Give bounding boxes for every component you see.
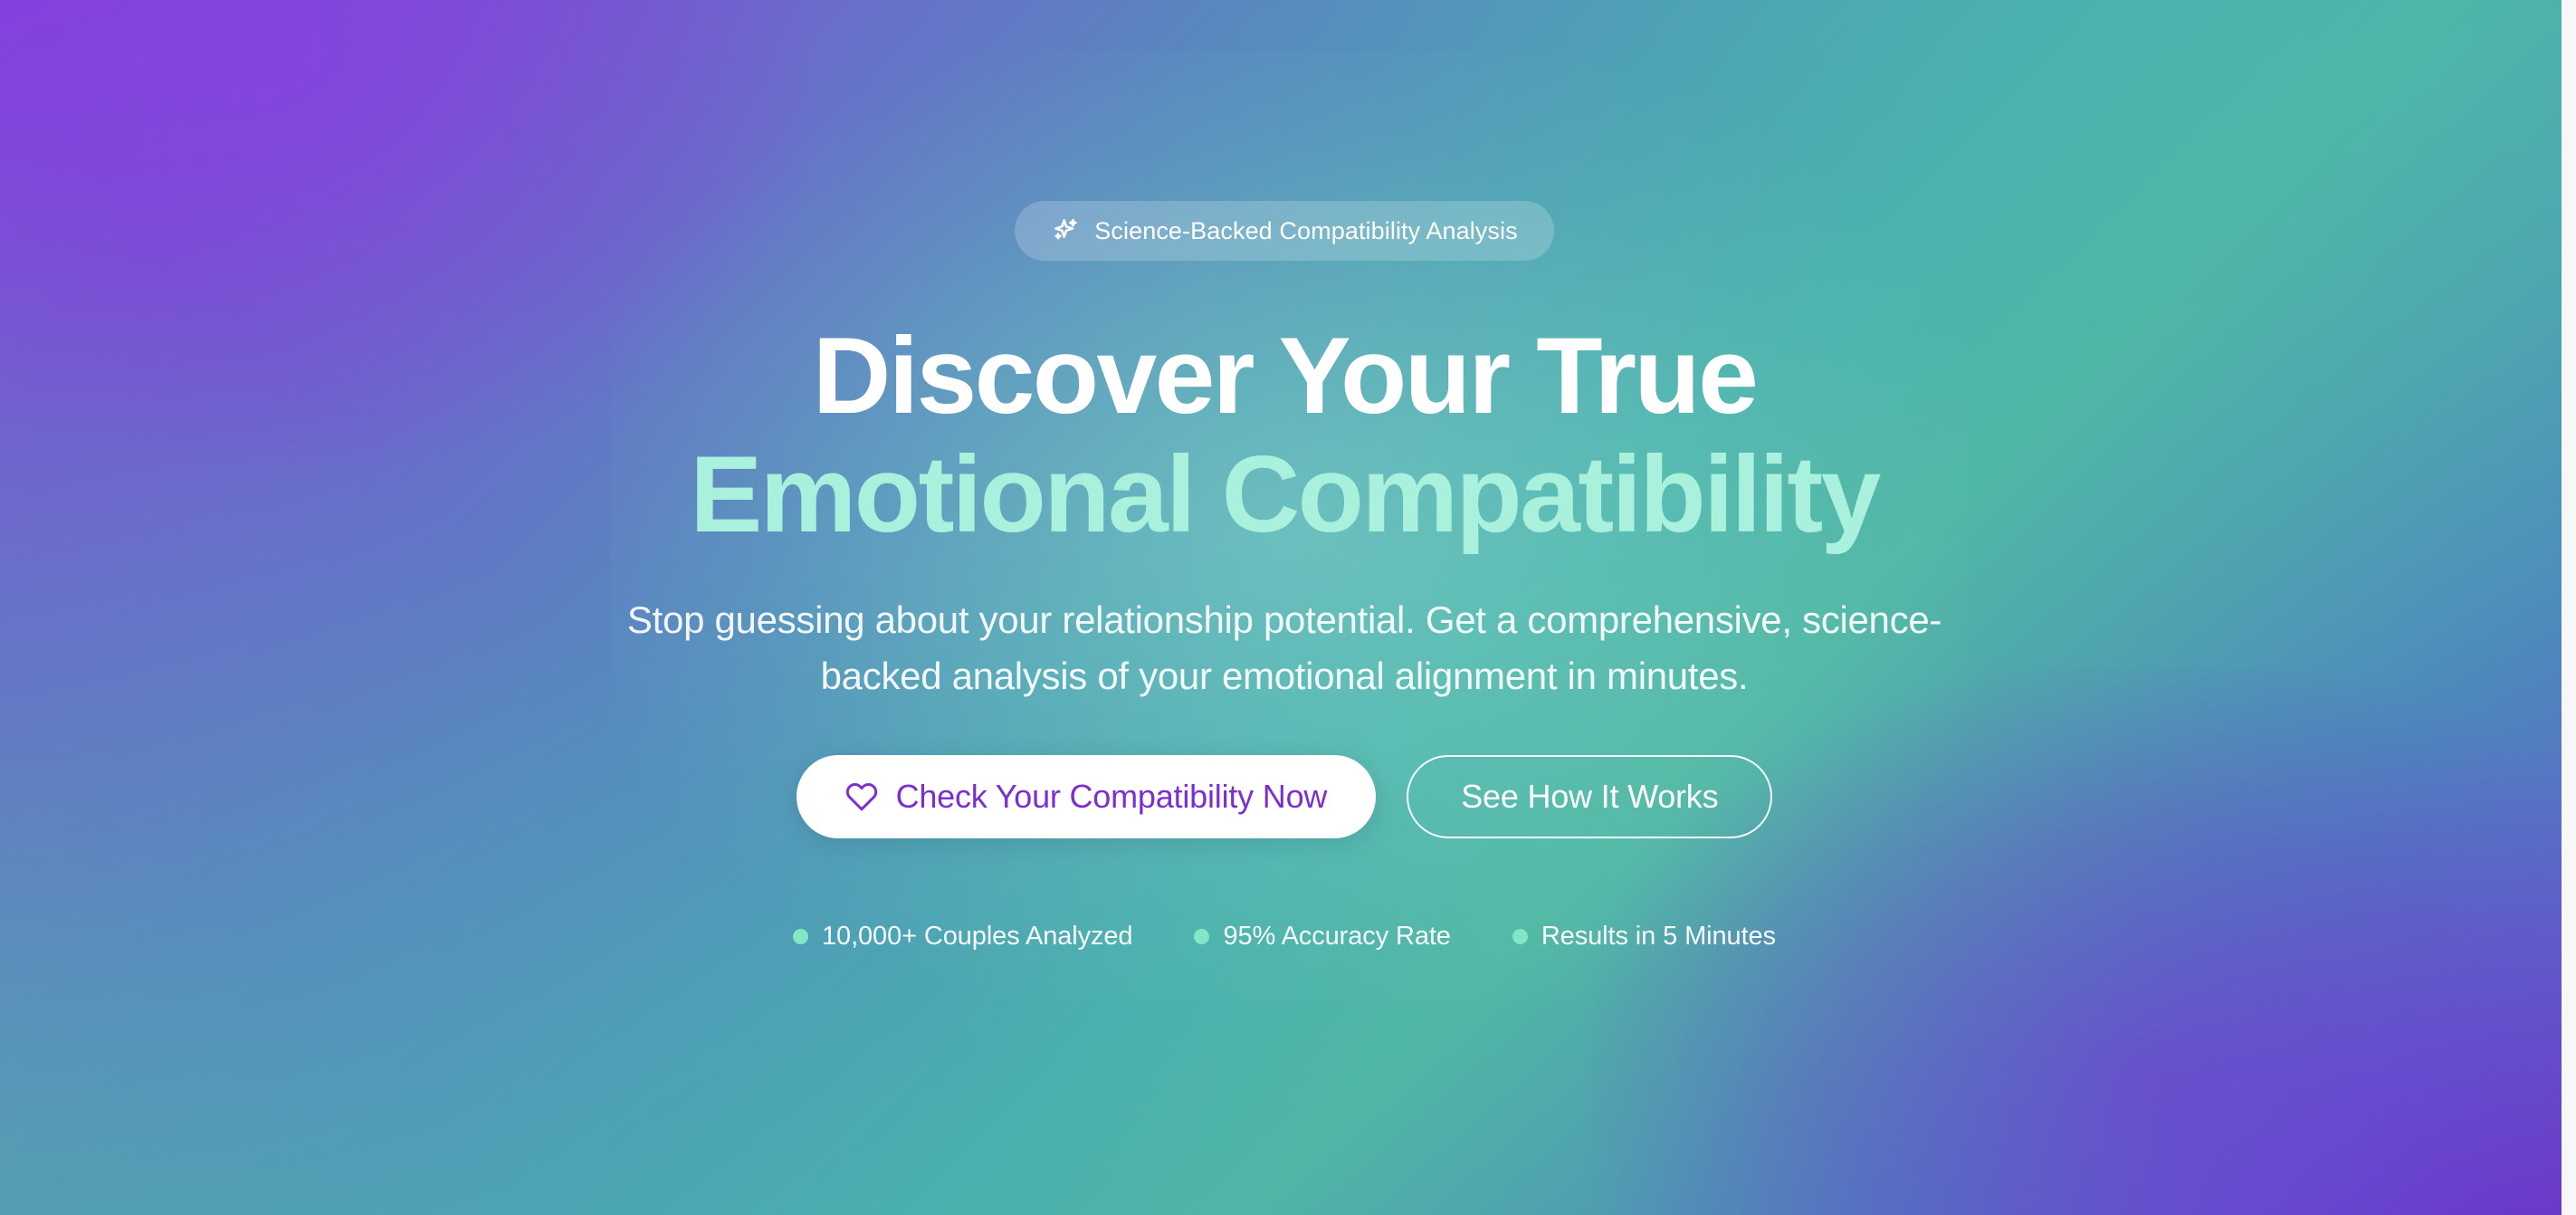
cta-button-row: Check Your Compatibility Now See How It …: [797, 755, 1773, 838]
stat-item: Results in 5 Minutes: [1512, 922, 1776, 952]
badge-label: Science-Backed Compatibility Analysis: [1094, 217, 1517, 245]
hero-subtitle: Stop guessing about your relationship po…: [615, 592, 1954, 704]
stat-label: 95% Accuracy Rate: [1223, 922, 1450, 952]
bullet-dot-icon: [793, 929, 808, 944]
check-compatibility-button[interactable]: Check Your Compatibility Now: [797, 755, 1377, 838]
sparkles-icon: [1051, 216, 1080, 245]
see-how-it-works-button[interactable]: See How It Works: [1407, 755, 1772, 838]
badge-science-backed[interactable]: Science-Backed Compatibility Analysis: [1015, 201, 1553, 261]
stat-label: Results in 5 Minutes: [1541, 922, 1776, 952]
stat-item: 10,000+ Couples Analyzed: [793, 922, 1132, 952]
stat-label: 10,000+ Couples Analyzed: [822, 922, 1132, 952]
page-title: Discover Your True Emotional Compatibili…: [690, 317, 1879, 554]
bullet-dot-icon: [1194, 929, 1209, 944]
hero-content: Science-Backed Compatibility Analysis Di…: [0, 0, 2569, 1215]
headline-line-2: Emotional Compatibility: [690, 435, 1879, 554]
check-compatibility-button-label: Check Your Compatibility Now: [896, 778, 1328, 816]
headline-line-1: Discover Your True: [690, 317, 1879, 435]
see-how-it-works-button-label: See How It Works: [1461, 778, 1718, 816]
bullet-dot-icon: [1512, 929, 1528, 944]
page-right-gutter: [2562, 0, 2569, 1215]
stat-item: 95% Accuracy Rate: [1194, 922, 1450, 952]
heart-icon: [845, 780, 878, 813]
stats-row: 10,000+ Couples Analyzed 95% Accuracy Ra…: [793, 922, 1776, 952]
hero-section: Science-Backed Compatibility Analysis Di…: [0, 0, 2569, 1215]
